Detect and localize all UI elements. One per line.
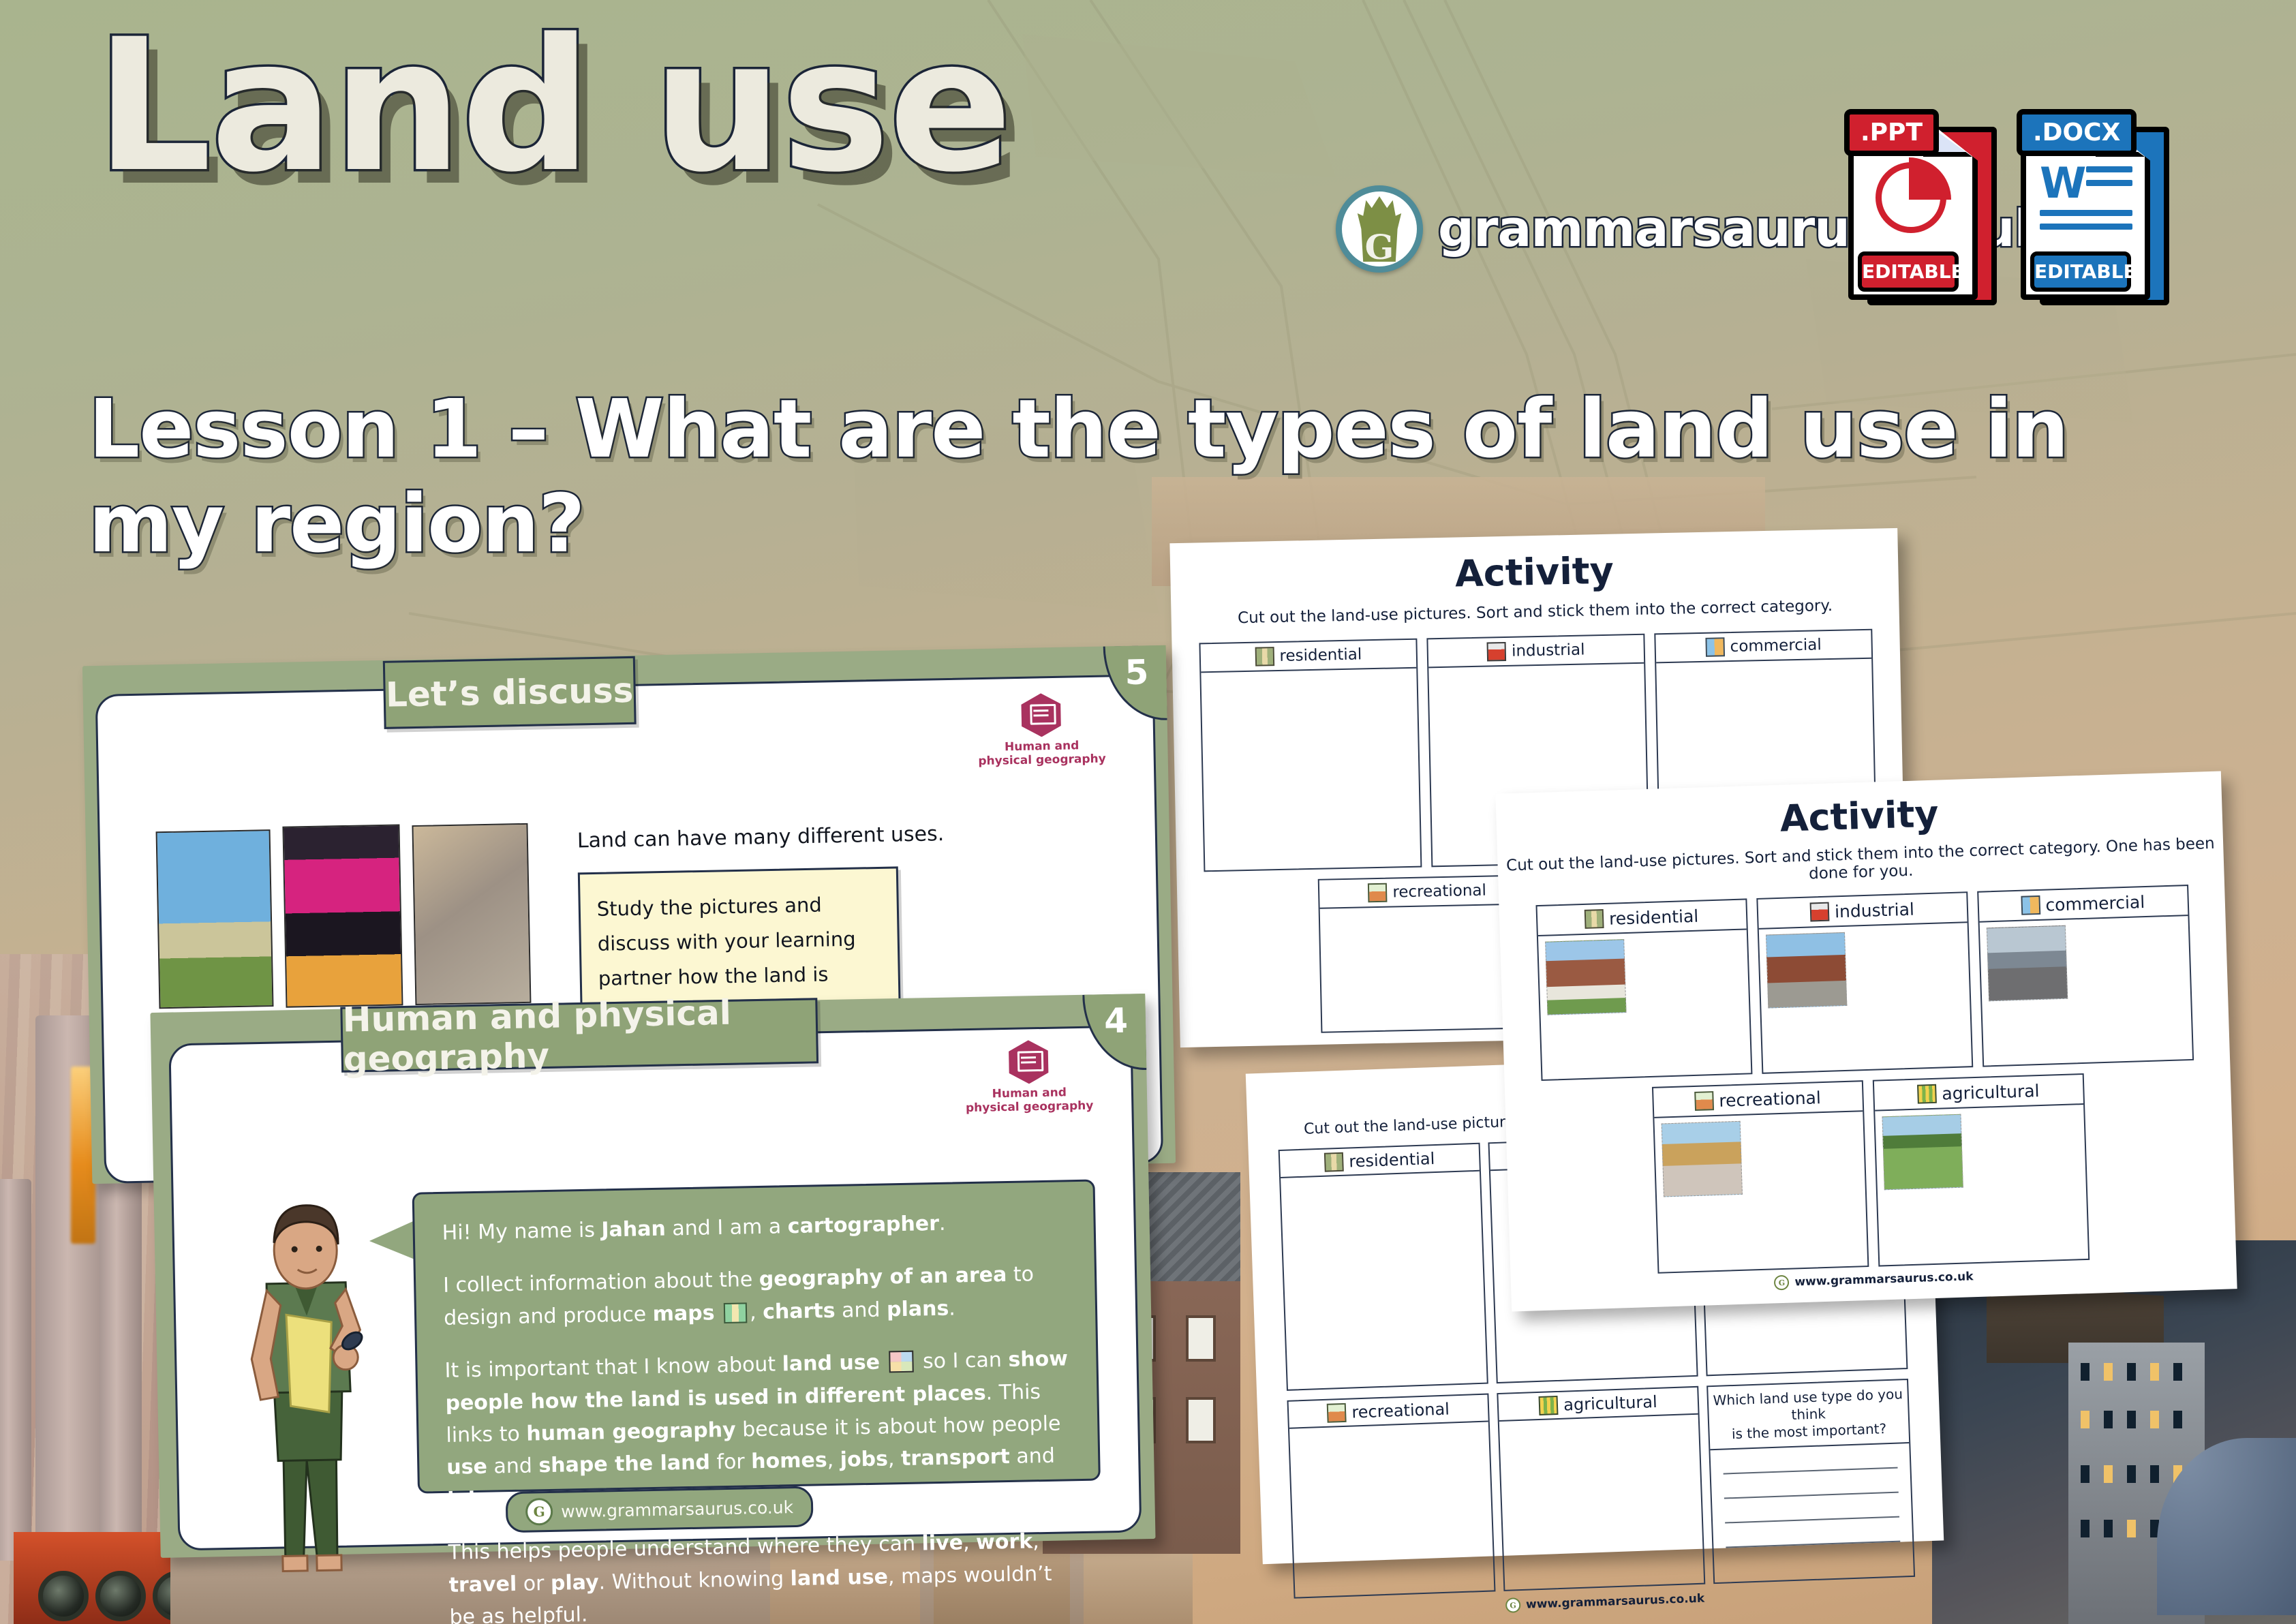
grammarsaurus-mini-logo-icon: G [525, 1498, 553, 1526]
category-recreational[interactable]: recreational [1651, 1080, 1868, 1274]
residential-icon [1324, 1152, 1344, 1172]
human-physical-geography-icon [1021, 693, 1061, 737]
slide-4-footer[interactable]: G www.grammarsaurus.co.uk [506, 1486, 814, 1533]
map-icon [724, 1302, 748, 1323]
category-dropzone[interactable] [1654, 1112, 1867, 1272]
category-label: recreational [1392, 882, 1486, 902]
slide-4-subject-badge: Human and physical geography [964, 1039, 1093, 1116]
land-use-icon [889, 1351, 914, 1373]
warehouse-photo[interactable] [1766, 932, 1847, 1009]
cinema-street-photo[interactable] [282, 824, 403, 1007]
speech-paragraph-4: This helps people understand where they … [448, 1525, 1074, 1624]
category-agricultural[interactable]: agricultural [1872, 1073, 2089, 1267]
slide-5-subject-badge: Human and physical geography [977, 692, 1106, 769]
reflection-question-label: Which land use type do you think is the … [1708, 1380, 1909, 1450]
agricultural-icon [1539, 1396, 1559, 1415]
slide-5-title-text: Let’s discuss [386, 671, 634, 715]
recreational-icon [1694, 1091, 1714, 1111]
residential-icon [1585, 909, 1604, 929]
slide-4-title: Human and physical geography [340, 998, 818, 1072]
ppt-extension-label: .PPT [1844, 109, 1939, 156]
category-label: residential [1609, 906, 1699, 928]
speech-paragraph-2: I collect information about the geograph… [443, 1258, 1069, 1334]
agricultural-icon [1917, 1084, 1937, 1104]
category-residential[interactable]: residential [1199, 639, 1422, 872]
slide-5-intro-text: Land can have many different uses. [577, 821, 987, 853]
logo-letter: G [1342, 227, 1417, 267]
footer-url: www.grammarsaurus.co.uk [561, 1497, 793, 1522]
city-night-photo [1932, 1240, 2296, 1624]
category-dropzone[interactable] [1537, 930, 1750, 1079]
retail-park-photo[interactable] [1986, 925, 2067, 1002]
docx-extension-label: .DOCX [2017, 109, 2137, 156]
answer-line[interactable] [1724, 1492, 1899, 1499]
category-agricultural[interactable]: agricultural [1497, 1386, 1705, 1591]
category-label: recreational [1719, 1088, 1821, 1111]
question-line-1: Which land use type do you think [1713, 1385, 1903, 1423]
worksheet-front[interactable]: Activity Cut out the land-use pictures. … [1495, 771, 2237, 1311]
pie-chart-icon [1876, 162, 1946, 233]
residential-icon [1255, 647, 1274, 667]
human-physical-geography-icon [1009, 1040, 1049, 1084]
detached-house-photo[interactable] [1545, 939, 1626, 1015]
badge-line-2: physical geography [978, 752, 1106, 769]
document-lines-icon-2 [2040, 210, 2132, 237]
category-dropzone[interactable] [1289, 1422, 1493, 1578]
farm-field-photo[interactable] [156, 829, 274, 1009]
category-label: agricultural [1942, 1081, 2040, 1103]
category-label: industrial [1835, 899, 1915, 921]
industrial-icon [1810, 902, 1830, 922]
recreational-icon [1327, 1403, 1347, 1423]
docx-editable-label: EDITABLE [2030, 251, 2131, 292]
category-dropzone[interactable] [1979, 916, 2192, 1066]
category-commercial[interactable]: commercial [1977, 885, 2194, 1067]
docx-file-badge[interactable]: W .DOCX EDITABLE [2021, 109, 2167, 307]
badge-line-1: Human and [1005, 739, 1080, 754]
badge-line-2: physical geography [966, 1099, 1094, 1116]
crop-field-photo[interactable] [1882, 1114, 1963, 1191]
category-label: recreational [1351, 1400, 1450, 1422]
slide-4-title-text: Human and physical geography [342, 991, 816, 1079]
commercial-icon [1705, 637, 1725, 657]
question-line-2: is the most important? [1732, 1420, 1887, 1442]
file-type-badges: .PPT EDITABLE W .DOCX EDITABLE [1848, 109, 2167, 307]
slide-4[interactable]: Human and physical geography Human and p… [150, 994, 1155, 1558]
page-number-text: 4 [1104, 1001, 1129, 1041]
worksheet-back-title: Activity [1170, 543, 1899, 601]
category-residential[interactable]: residential [1535, 898, 1752, 1081]
reflection-question-box[interactable]: Which land use type do you think is the … [1706, 1379, 1915, 1584]
page-title: Land use [95, 15, 1011, 198]
category-dropzone[interactable] [1201, 669, 1420, 871]
badge-label: Human and physical geography [965, 1086, 1093, 1116]
footer-url: www.grammarsaurus.co.uk [1794, 1270, 1974, 1289]
grammarsaurus-mini-logo-icon: G [1505, 1597, 1521, 1613]
category-dropzone[interactable] [1281, 1171, 1487, 1390]
category-recreational[interactable]: recreational [1287, 1394, 1496, 1599]
badge-label: Human and physical geography [978, 739, 1106, 769]
category-label: commercial [1730, 636, 1822, 656]
category-residential[interactable]: residential [1279, 1143, 1488, 1391]
industrial-icon [1487, 642, 1507, 662]
recreational-icon [1368, 883, 1388, 903]
page-number-text: 5 [1124, 652, 1149, 692]
category-dropzone[interactable] [1499, 1415, 1703, 1570]
ppt-file-badge[interactable]: .PPT EDITABLE [1848, 109, 1995, 307]
town-square-photo[interactable] [1661, 1121, 1742, 1197]
answer-lines[interactable] [1711, 1467, 1914, 1582]
word-letter-icon: W [2040, 158, 2086, 208]
category-label: commercial [2045, 892, 2145, 915]
document-lines-icon [2086, 166, 2132, 194]
answer-line[interactable] [1724, 1467, 1898, 1475]
category-label: industrial [1512, 641, 1585, 660]
badge-line-1: Human and [992, 1086, 1067, 1101]
grammarsaurus-mini-logo-icon: G [1774, 1275, 1790, 1291]
speech-bubble-tail [369, 1220, 417, 1261]
category-industrial[interactable]: industrial [1756, 891, 1973, 1074]
slide-5-title: Let’s discuss [383, 656, 637, 729]
speech-paragraph-1: Hi! My name is Jahan and I am a cartogra… [442, 1205, 1067, 1249]
category-dropzone[interactable] [1875, 1105, 2088, 1266]
worksheet-back-instruction: Cut out the land-use pictures. Sort and … [1171, 596, 1899, 628]
category-label: residential [1349, 1149, 1435, 1171]
aerial-industrial-photo[interactable] [412, 823, 531, 1005]
category-dropzone[interactable] [1758, 923, 1971, 1073]
answer-line[interactable] [1726, 1541, 1900, 1548]
slide-4-page: Human and physical geography Human and p… [168, 1025, 1142, 1550]
speech-bubble: Hi! My name is Jahan and I am a cartogra… [412, 1180, 1101, 1494]
answer-line[interactable] [1725, 1516, 1899, 1524]
dinosaur-logo-icon: G [1336, 185, 1423, 273]
ppt-editable-label: EDITABLE [1858, 251, 1959, 292]
category-label: residential [1279, 645, 1362, 665]
commercial-icon [2021, 895, 2040, 915]
category-label: agricultural [1563, 1392, 1657, 1415]
